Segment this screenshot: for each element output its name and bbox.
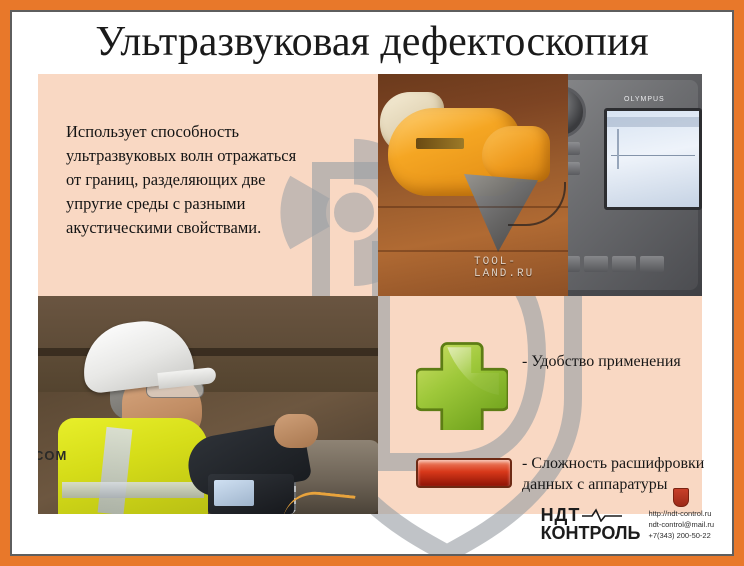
crest-icon [673,488,689,507]
photo-watermark: TOOL-LAND.RU [474,256,568,280]
portable-detector-screen [214,480,254,506]
contact-email[interactable]: ndt-control@mail.ru [648,520,714,531]
tool-cord [508,182,566,226]
logo-crest-group: http://ndt-control.ru ndt-control@mail.r… [648,488,714,542]
company-logo: НДТ КОНТРОЛЬ http://ndt-control.ru ndt-c… [541,488,714,542]
vest-text: COM [38,448,67,463]
body-paragraph: Использует способность ультразвуковых во… [66,120,298,240]
wood-plank-line [378,206,568,208]
slide-inner: Ультразвуковая дефектоскопия [10,10,734,556]
page-title: Ультразвуковая дефектоскопия [12,18,732,66]
device-key [568,162,580,175]
device-key [640,256,664,272]
contact-website[interactable]: http://ndt-control.ru [648,509,714,520]
hi-vis-vest [58,418,208,514]
screen-toolbar [607,117,699,127]
vest-stripe [62,482,204,498]
glove-and-tool-photo: TOOL-LAND.RU [378,74,568,296]
logo-contacts: http://ndt-control.ru ndt-control@mail.r… [648,509,714,542]
olympus-flaw-detector-photo: OLYMPUS [568,74,702,296]
logo-line-2: КОНТРОЛЬ [541,524,641,542]
device-key [612,256,636,272]
device-screen [604,108,702,210]
plus-icon [416,338,508,430]
device-bottom-keys [568,256,698,286]
waveform-icon [582,508,622,522]
logo-line-1: НДТ [541,506,641,524]
screen-pulse [617,129,619,169]
device-brand-label: OLYMPUS [624,96,665,103]
inspector-at-work-photo: COM [38,296,378,514]
contact-phone: +7(343) 200-50-22 [648,531,714,542]
bullet-advantage: - Удобство применения [522,352,732,373]
wood-plank-line [378,250,568,252]
glove-fingers [482,126,550,182]
logo-ndt-text: НДТ [541,506,581,524]
device-key [584,256,608,272]
device-key [568,142,580,155]
worker-hand [274,414,318,448]
minus-icon [416,458,512,488]
device-key [568,256,580,272]
slide-frame: Ультразвуковая дефектоскопия [0,0,744,566]
logo-wordmark: НДТ КОНТРОЛЬ [541,506,641,542]
screen-trace [611,155,695,156]
glove-label [416,138,464,149]
